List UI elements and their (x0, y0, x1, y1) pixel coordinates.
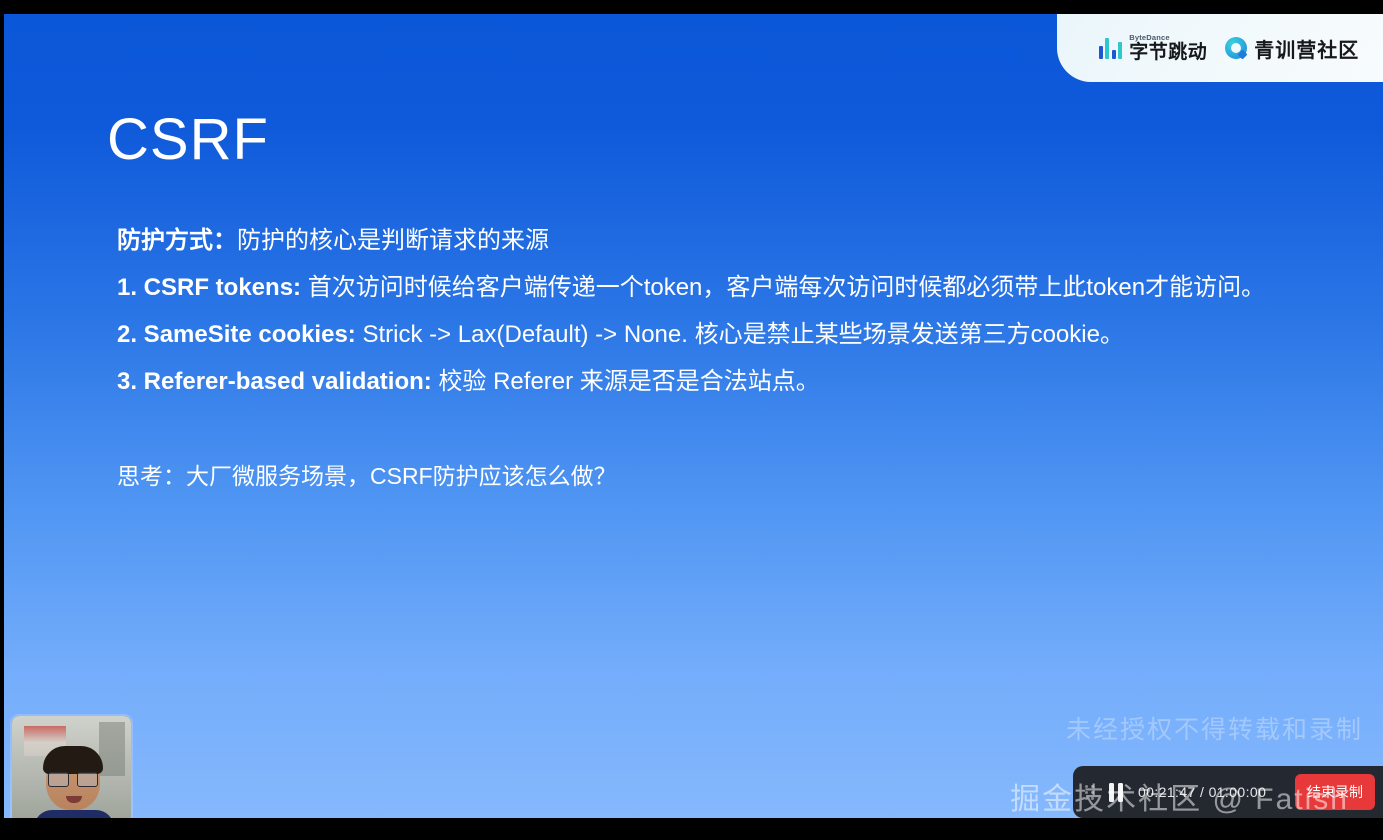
slide-body: 防护方式：防护的核心是判断请求的来源 1. CSRF tokens: 首次访问时… (117, 217, 1277, 500)
slide-body-spacer (117, 405, 1277, 453)
slide-title: CSRF (107, 111, 269, 169)
slide-line-2-bold: 2. SameSite cookies: (117, 321, 356, 348)
bytedance-logo-en: ByteDance (1129, 34, 1207, 42)
secondary-watermark: 未经授权不得转载和录制 (1066, 710, 1363, 746)
bytedance-logo: ByteDance 字节跳动 (1099, 34, 1208, 63)
presenter-glasses (48, 772, 98, 785)
slide-line-3-rest: 校验 Referer 来源是否是合法站点。 (432, 368, 820, 395)
slide-line-defense-heading: 防护方式：防护的核心是判断请求的来源 (117, 217, 1277, 264)
screen-recording-view: ByteDance 字节跳动 青训营社区 CSRF 防护方式：防护的核心是判断请… (0, 0, 1383, 840)
letterbox-top (0, 0, 1383, 14)
slide-line-0-bold: 防护方式： (117, 227, 237, 254)
slide-question-line: 思考：大厂微服务场景，CSRF防护应该怎么做？ (117, 453, 1277, 500)
letterbox-bottom (0, 818, 1383, 840)
presenter-hair (43, 746, 103, 774)
slide-line-3-bold: 3. Referer-based validation: (117, 368, 432, 395)
presentation-slide: ByteDance 字节跳动 青训营社区 CSRF 防护方式：防护的核心是判断请… (4, 14, 1383, 818)
main-watermark: 掘金技术社区 @ Fatish (1010, 774, 1349, 818)
community-logo-cn: 青训营社区 (1254, 34, 1359, 63)
slide-line-item-2: 2. SameSite cookies: Strick -> Lax(Defau… (117, 311, 1277, 358)
sponsor-logo-banner: ByteDance 字节跳动 青训营社区 (1057, 14, 1383, 82)
slide-line-2-rest: Strick -> Lax(Default) -> None. 核心是禁止某些场… (356, 321, 1124, 348)
slide-line-0-rest: 防护的核心是判断请求的来源 (237, 227, 549, 254)
bar-chart-logo-icon (1099, 38, 1123, 59)
slide-line-1-rest: 首次访问时候给客户端传递一个token，客户端每次访问时候都必须带上此token… (301, 274, 1265, 301)
slide-line-1-bold: 1. CSRF tokens: (117, 274, 301, 301)
slide-line-item-3: 3. Referer-based validation: 校验 Referer … (117, 358, 1277, 405)
circle-swirl-logo-icon (1225, 37, 1247, 59)
slide-line-item-1: 1. CSRF tokens: 首次访问时候给客户端传递一个token，客户端每… (117, 264, 1277, 311)
letterbox-left (0, 0, 4, 840)
bytedance-logo-cn: 字节跳动 (1129, 43, 1207, 62)
community-logo: 青训营社区 (1225, 34, 1359, 63)
presenter-camera-thumbnail[interactable] (12, 716, 131, 832)
